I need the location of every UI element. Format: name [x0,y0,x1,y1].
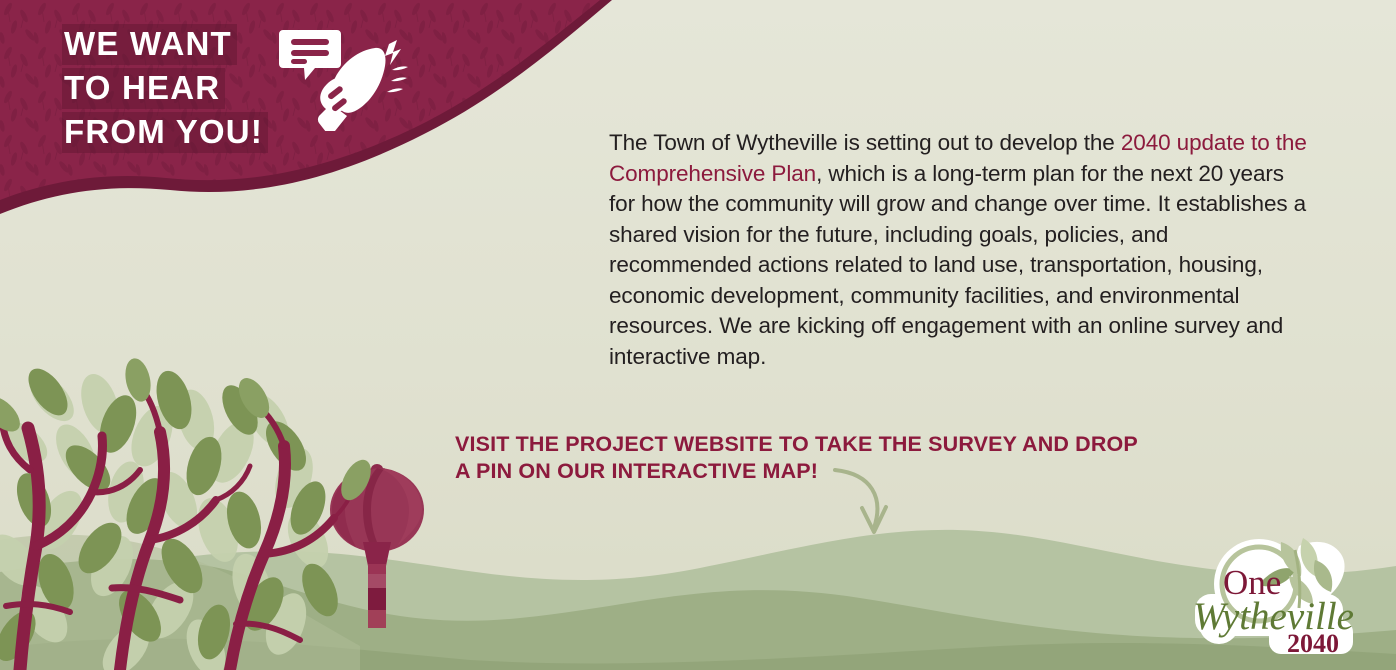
hills-far [0,530,1396,670]
logo-text-2040: 2040 [1287,629,1339,658]
headline-line-2: TO HEAR [62,68,225,109]
call-to-action: VISIT THE PROJECT WEBSITE TO TAKE THE SU… [455,431,1095,485]
tree-branches-illustration [0,356,377,670]
hills-near [0,559,1396,670]
body-segment-2: , which is a long-term plan for the next… [609,161,1306,369]
leaves-dark [0,362,345,668]
body-paragraph: The Town of Wytheville is setting out to… [609,128,1309,372]
one-wytheville-2040-logo: One Wytheville 2040 [1191,532,1376,662]
cta-line-2: A PIN ON OUR INTERACTIVE MAP! [455,458,1095,485]
headline-line-1: WE WANT [62,24,237,65]
megaphone-icon [279,26,409,131]
leaves-tip [0,356,377,505]
body-segment-1: The Town of Wytheville is setting out to… [609,130,1121,155]
water-tower-icon [330,464,424,628]
poster-canvas: WE WANT TO HEAR FROM YOU! [0,0,1396,670]
branches [2,386,354,670]
cta-line-1: VISIT THE PROJECT WEBSITE TO TAKE THE SU… [455,431,1095,458]
foreground-slope [0,535,360,670]
leaves-light [0,367,336,670]
headline-line-3: FROM YOU! [62,112,268,153]
